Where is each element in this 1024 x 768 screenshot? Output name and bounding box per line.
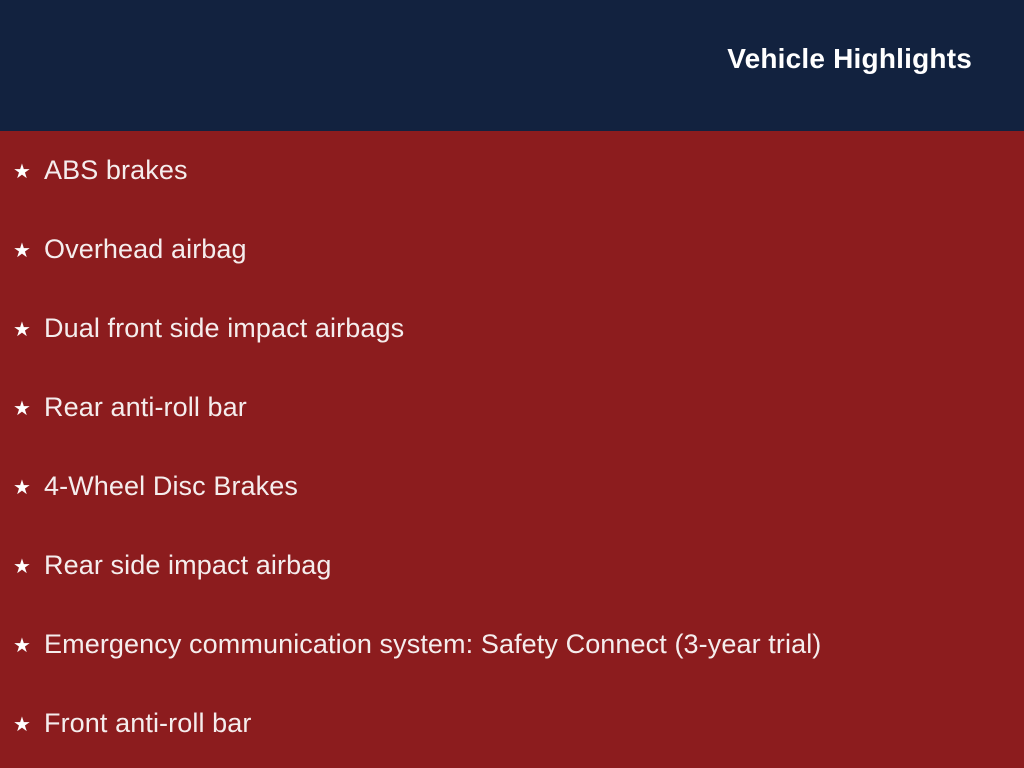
list-item-label: Dual front side impact airbags [44, 313, 404, 344]
list-item-label: ABS brakes [44, 155, 188, 186]
vehicle-highlights-list: ★ ABS brakes ★ Overhead airbag ★ Dual fr… [0, 131, 1024, 763]
list-item-label: 4-Wheel Disc Brakes [44, 471, 298, 502]
list-item: ★ Dual front side impact airbags [0, 289, 1024, 368]
slide-header: Vehicle Highlights [0, 0, 1024, 131]
slide-body: ★ ABS brakes ★ Overhead airbag ★ Dual fr… [0, 131, 1024, 768]
star-icon: ★ [10, 241, 34, 261]
list-item: ★ Rear anti-roll bar [0, 368, 1024, 447]
list-item: ★ Rear side impact airbag [0, 526, 1024, 605]
list-item-label: Rear side impact airbag [44, 550, 331, 581]
star-icon: ★ [10, 320, 34, 340]
star-icon: ★ [10, 636, 34, 656]
list-item-label: Front anti-roll bar [44, 708, 251, 739]
list-item: ★ 4-Wheel Disc Brakes [0, 447, 1024, 526]
star-icon: ★ [10, 715, 34, 735]
list-item-label: Rear anti-roll bar [44, 392, 247, 423]
list-item-label: Emergency communication system: Safety C… [44, 629, 821, 660]
list-item-label: Overhead airbag [44, 234, 247, 265]
list-item: ★ Front anti-roll bar [0, 684, 1024, 763]
star-icon: ★ [10, 162, 34, 182]
slide: Vehicle Highlights ★ ABS brakes ★ Overhe… [0, 0, 1024, 768]
star-icon: ★ [10, 557, 34, 577]
list-item: ★ Overhead airbag [0, 210, 1024, 289]
star-icon: ★ [10, 478, 34, 498]
list-item: ★ ABS brakes [0, 131, 1024, 210]
star-icon: ★ [10, 399, 34, 419]
page-title: Vehicle Highlights [727, 44, 972, 75]
list-item: ★ Emergency communication system: Safety… [0, 605, 1024, 684]
